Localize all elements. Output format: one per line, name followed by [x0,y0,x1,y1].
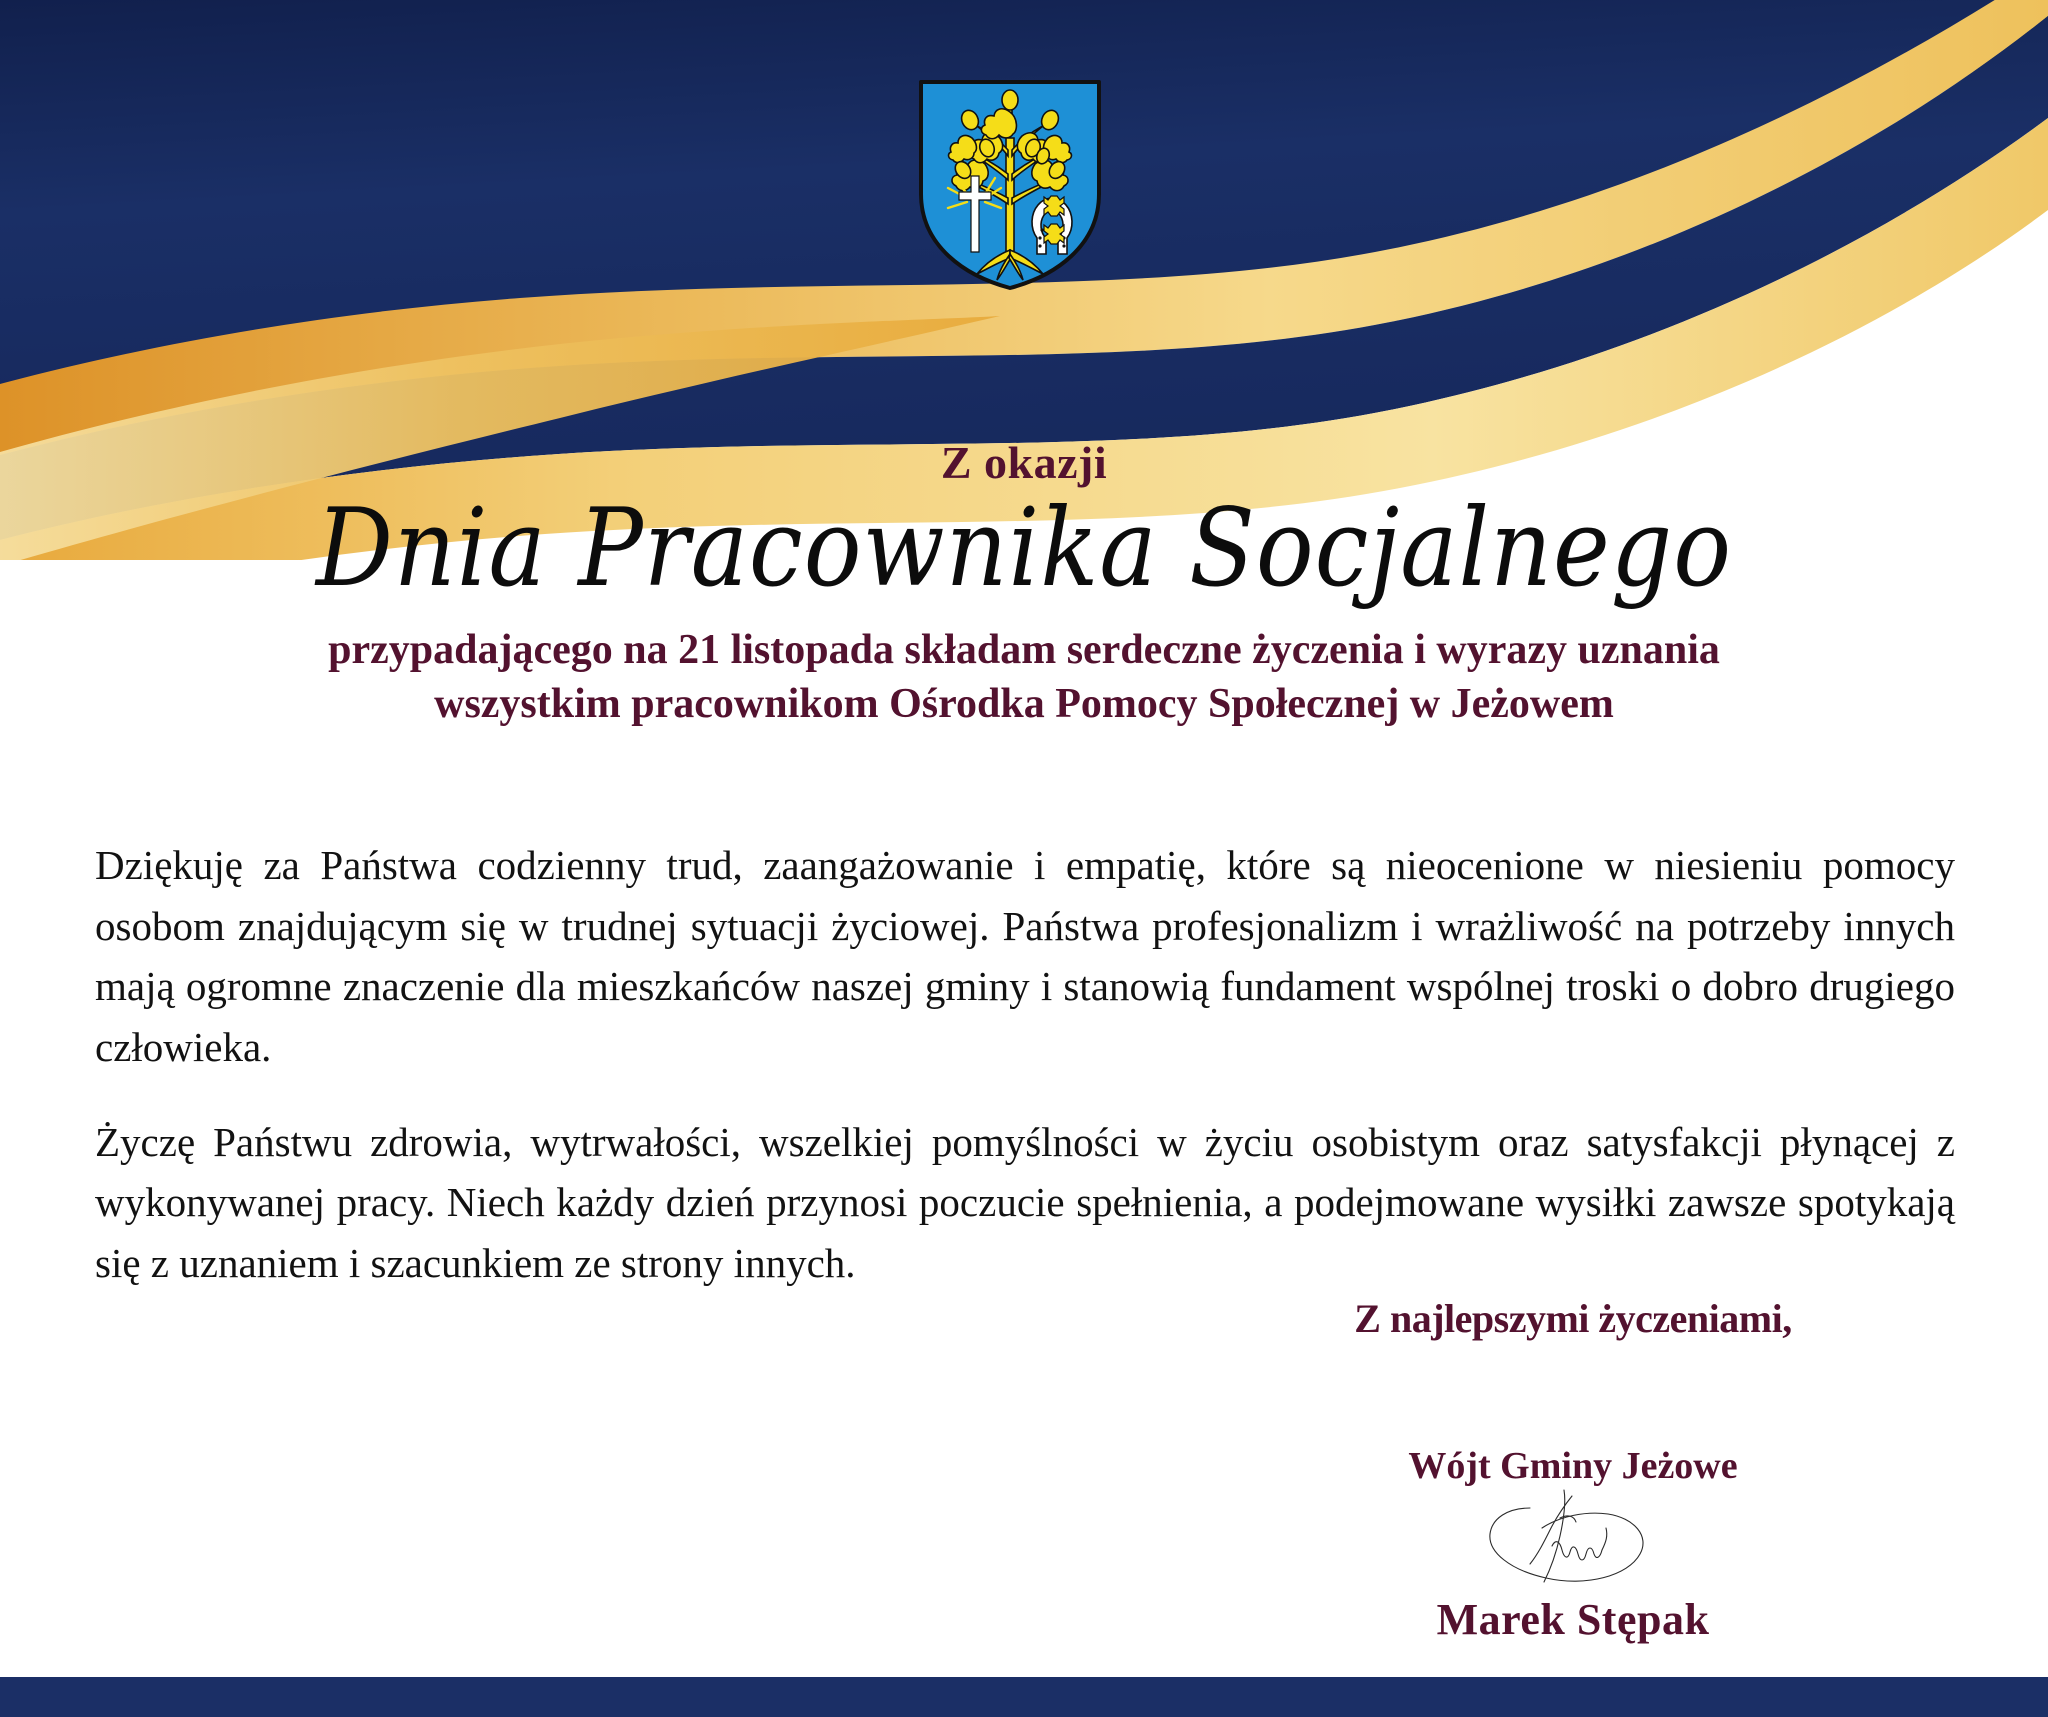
signature-block: Z najlepszymi życzeniami, Wójt Gminy Jeż… [1193,1295,1953,1645]
signature-role: Wójt Gminy Jeżowe [1193,1444,1953,1488]
title-block: Z okazji Dnia Pracownika Socjalnego przy… [0,440,2048,732]
coat-of-arms-icon [915,78,1105,293]
body-paragraph-1: Dziękuję za Państwa codzienny trud, zaan… [95,835,1955,1078]
occasion-prefix: Z okazji [0,440,2048,486]
subtitle-block: przypadającego na 21 listopada składam s… [274,623,1774,732]
subtitle-line-2: wszystkim pracownikom Ośrodka Pomocy Spo… [274,677,1774,732]
page-title: Dnia Pracownika Socjalnego [0,492,2048,605]
signature-scribble [1468,1484,1678,1592]
footer-bar [0,1677,2048,1717]
signature-scribble-icon [1468,1484,1678,1592]
subtitle-line-1: przypadającego na 21 listopada składam s… [274,623,1774,678]
signature-name: Marek Stępak [1193,1594,1953,1645]
coat-of-arms [915,78,1105,293]
cross-pattee-top-icon [1044,196,1064,216]
signature-closing: Z najlepszymi życzeniami, [1193,1295,1953,1342]
letter-body: Dziękuję za Państwa codzienny trud, zaan… [95,835,1955,1294]
body-paragraph-2: Życzę Państwu zdrowia, wytrwałości, wsze… [95,1112,1955,1294]
